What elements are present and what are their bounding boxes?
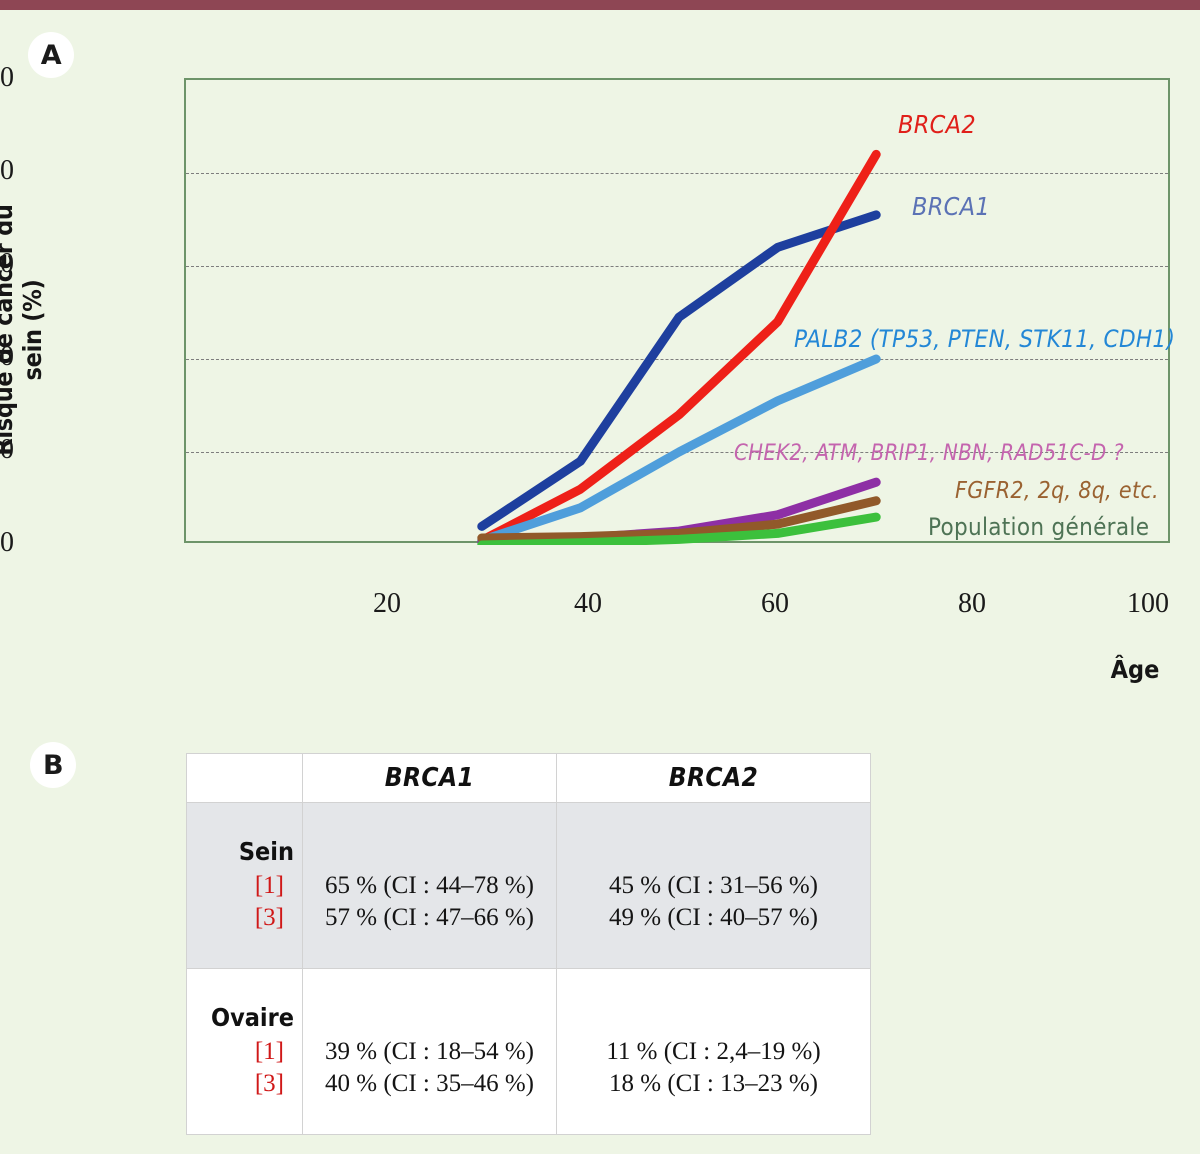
value: 18 % (CI : 13–23 %) bbox=[557, 1068, 870, 1100]
plot-area bbox=[184, 78, 1170, 543]
series-curves bbox=[186, 80, 1172, 545]
y-tick-20: 20 bbox=[0, 436, 14, 464]
y-tick-100: 100 bbox=[0, 64, 14, 92]
panel-a-chart: A Risque de cancer du sein (%) 100 80 60… bbox=[0, 0, 1200, 710]
ref-label: [1] bbox=[187, 1036, 294, 1068]
value: 11 % (CI : 2,4–19 %) bbox=[557, 1036, 870, 1068]
ref-label: [3] bbox=[187, 1068, 294, 1100]
series-label-population-generale: Population générale bbox=[928, 513, 1149, 541]
value: 45 % (CI : 31–56 %) bbox=[557, 870, 870, 902]
table-header-brca2: BRCA2 bbox=[557, 754, 871, 803]
cell-sein-brca1: 65 % (CI : 44–78 %) 57 % (CI : 47–66 %) bbox=[303, 803, 557, 969]
x-tick-80: 80 bbox=[927, 588, 1017, 620]
y-tick-80: 80 bbox=[0, 157, 14, 185]
panel-a-badge: A bbox=[28, 32, 74, 78]
series-label-palb2: PALB2 (TP53, PTEN, STK11, CDH1) bbox=[794, 325, 1175, 353]
y-tick-40: 40 bbox=[0, 343, 14, 371]
panel-b-badge: B bbox=[30, 742, 76, 788]
series-label-brca2: BRCA2 bbox=[898, 110, 976, 139]
ref-label: [1] bbox=[187, 870, 294, 902]
series-label-fgfr2: FGFR2, 2q, 8q, etc. bbox=[955, 478, 1159, 504]
x-tick-40: 40 bbox=[543, 588, 633, 620]
group-label: Ovaire bbox=[187, 1003, 294, 1032]
y-tick-0: 0 bbox=[0, 529, 14, 557]
x-tick-100: 100 bbox=[1103, 588, 1193, 620]
cell-ovaire-brca1: 39 % (CI : 18–54 %) 40 % (CI : 35–46 %) bbox=[303, 969, 557, 1135]
ref-label: [3] bbox=[187, 902, 294, 934]
table-header-brca1: BRCA1 bbox=[303, 754, 557, 803]
value: 49 % (CI : 40–57 %) bbox=[557, 902, 870, 934]
table-header: BRCA1 BRCA2 bbox=[187, 754, 871, 803]
x-axis-title: Âge bbox=[1090, 655, 1180, 684]
value: 40 % (CI : 35–46 %) bbox=[303, 1068, 556, 1100]
x-tick-20: 20 bbox=[342, 588, 432, 620]
table-row: Ovaire [1] [3] 39 % (CI : 18–54 %) 40 % … bbox=[187, 969, 871, 1135]
series-label-brca1: BRCA1 bbox=[912, 192, 990, 221]
table-body: Sein [1] [3] 65 % (CI : 44–78 %) 57 % (C… bbox=[187, 803, 871, 1135]
series-label-chek2: CHEK2, ATM, BRIP1, NBN, RAD51C-D ? bbox=[734, 441, 1124, 466]
value: 65 % (CI : 44–78 %) bbox=[303, 870, 556, 902]
cell-sein-brca2: 45 % (CI : 31–56 %) 49 % (CI : 40–57 %) bbox=[557, 803, 871, 969]
value: 39 % (CI : 18–54 %) bbox=[303, 1036, 556, 1068]
table-header-row: BRCA1 BRCA2 bbox=[187, 754, 871, 803]
risk-table: BRCA1 BRCA2 Sein [1] [3] 65 % (CI : 44–7… bbox=[186, 753, 871, 1135]
table-row: Sein [1] [3] 65 % (CI : 44–78 %) 57 % (C… bbox=[187, 803, 871, 969]
table-header-blank bbox=[187, 754, 303, 803]
panel-b-table: BRCA1 BRCA2 Sein [1] [3] 65 % (CI : 44–7… bbox=[186, 753, 870, 1135]
x-tick-60: 60 bbox=[730, 588, 820, 620]
row-group-ovaire: Ovaire [1] [3] bbox=[187, 969, 303, 1135]
row-group-sein: Sein [1] [3] bbox=[187, 803, 303, 969]
value: 57 % (CI : 47–66 %) bbox=[303, 902, 556, 934]
y-tick-60: 60 bbox=[0, 250, 14, 278]
cell-ovaire-brca2: 11 % (CI : 2,4–19 %) 18 % (CI : 13–23 %) bbox=[557, 969, 871, 1135]
group-label: Sein bbox=[187, 837, 294, 866]
